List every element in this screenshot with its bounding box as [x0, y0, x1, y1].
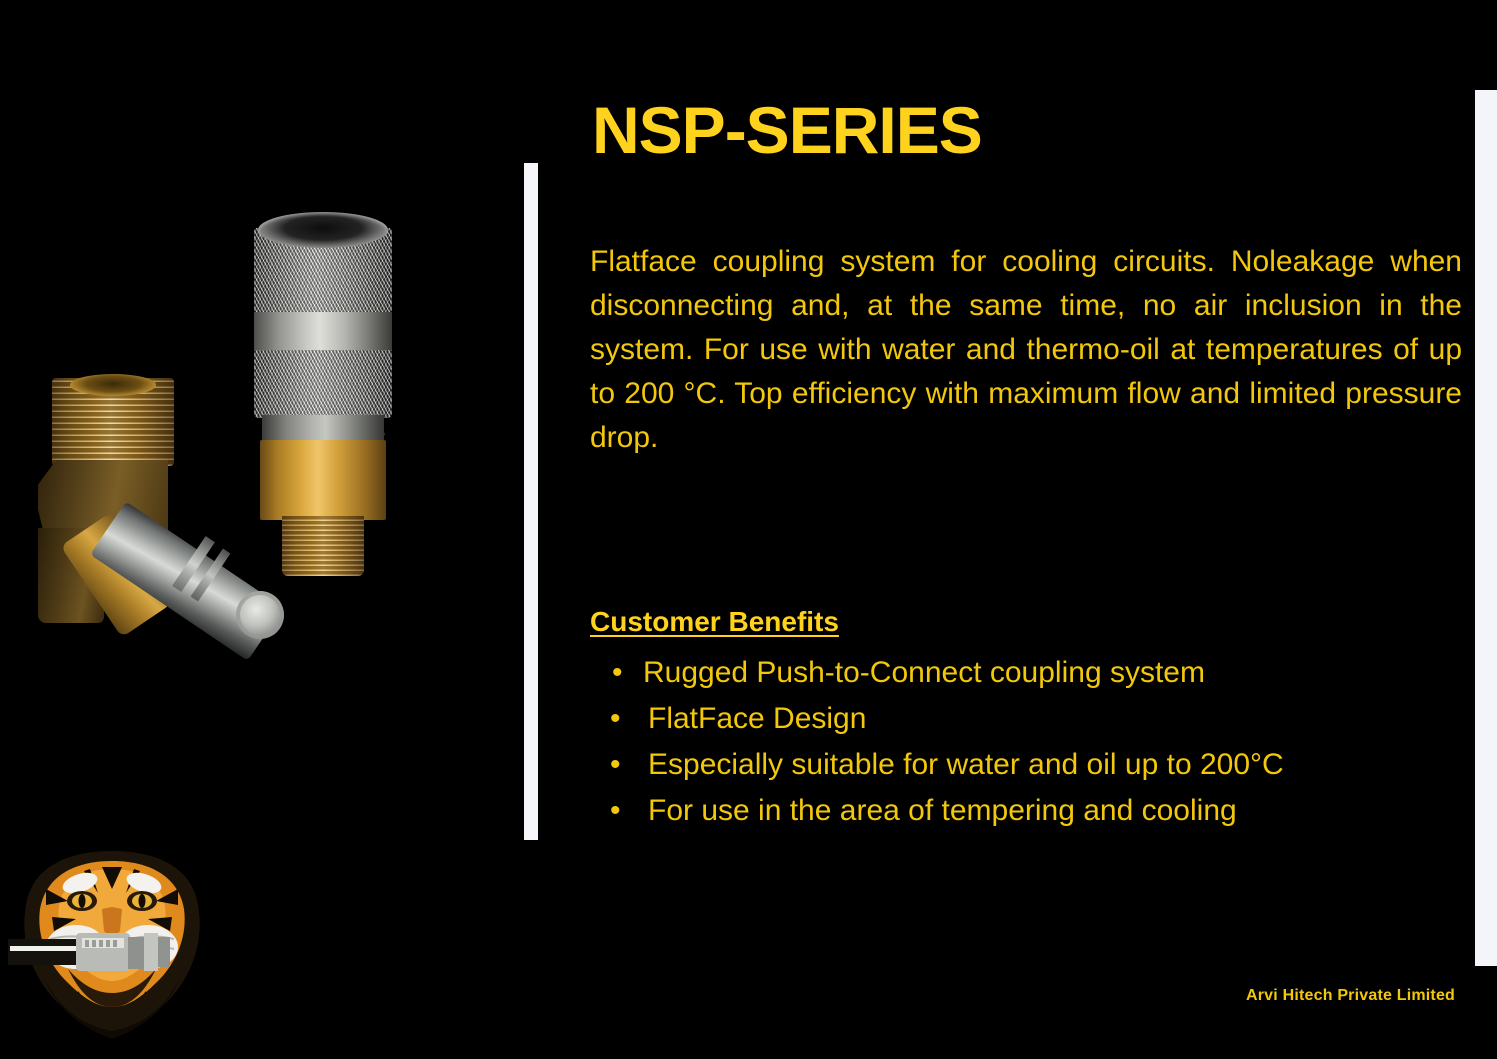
bullet-icon: •	[612, 650, 623, 696]
list-item-label: FlatFace Design	[648, 702, 866, 735]
arvi-hitech-tiger-logo	[6, 843, 218, 1043]
bullet-icon: •	[610, 788, 621, 834]
coupler-label-band: PARKER RA	[254, 312, 392, 352]
list-item-label: Especially suitable for water and oil up…	[648, 748, 1284, 781]
description-paragraph: Flatface coupling system for cooling cir…	[590, 240, 1462, 460]
slide-canvas: PARKER RA NSP-SERIES Flatface coupling s…	[0, 0, 1497, 1059]
list-item: • Especially suitable for water and oil …	[600, 742, 1460, 788]
list-item: • FlatFace Design	[600, 696, 1460, 742]
benefits-list: • Rugged Push-to-Connect coupling system…	[600, 650, 1460, 834]
elbow-bore-opening	[70, 374, 156, 396]
coupler-bore-opening	[258, 212, 388, 248]
list-item: • Rugged Push-to-Connect coupling system	[600, 650, 1460, 696]
page-title: NSP-SERIES	[592, 96, 982, 165]
list-item: • For use in the area of tempering and c…	[600, 788, 1460, 834]
list-item-label: Rugged Push-to-Connect coupling system	[643, 656, 1205, 689]
nipple-flatface-cap	[236, 591, 284, 639]
list-item-label: For use in the area of tempering and coo…	[648, 794, 1237, 827]
bullet-icon: •	[610, 742, 621, 788]
bullet-icon: •	[610, 696, 621, 742]
product-photo: PARKER RA	[0, 180, 505, 700]
footer-company-name: Arvi Hitech Private Limited	[1246, 987, 1455, 1005]
right-edge-strip	[1475, 90, 1497, 966]
benefits-heading: Customer Benefits	[590, 606, 839, 638]
elbow-fitting	[20, 378, 300, 668]
vertical-divider	[524, 163, 538, 840]
